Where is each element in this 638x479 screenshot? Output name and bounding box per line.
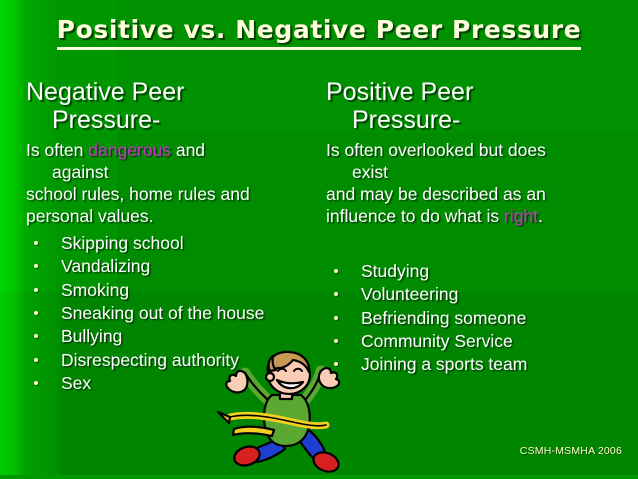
positive-behaviors-list: Studying Volunteering Befriending someon… <box>326 260 527 377</box>
negative-description-line-1: Is often dangerous and <box>26 139 318 161</box>
negative-description-accent-word: dangerous <box>88 140 171 160</box>
positive-bullet-label: Befriending someone <box>361 308 526 328</box>
positive-description-line-1: Is often overlooked but does <box>326 139 626 161</box>
positive-bullet-label: Volunteering <box>361 284 458 304</box>
positive-column-heading: Positive Peer Pressure- <box>326 78 626 135</box>
negative-bullet-label: Vandalizing <box>61 256 150 276</box>
slide-title: Positive vs. Negative Peer Pressure <box>57 16 582 50</box>
positive-bullet-label: Studying <box>361 261 429 281</box>
credit-text: CSMH-MSMHA 2006 <box>520 445 622 457</box>
negative-bullet-label: Sex <box>61 373 91 393</box>
negative-column-description: Is often dangerous and against school ru… <box>26 139 318 228</box>
list-item: Sneaking out of the house <box>26 302 264 325</box>
positive-description-line-3: and may be described as an <box>326 183 626 205</box>
positive-column-description: Is often overlooked but does exist and m… <box>326 139 626 228</box>
positive-bullet-label: Community Service <box>361 331 513 351</box>
positive-description-line-4: influence to do what is right. <box>326 205 626 227</box>
list-item: Volunteering <box>326 283 527 306</box>
positive-description-line-4-post: . <box>538 206 543 226</box>
positive-description-accent-word: right <box>504 206 538 226</box>
negative-bullet-label: Bullying <box>61 326 122 346</box>
negative-peer-pressure-column: Negative Peer Pressure- Is often dangero… <box>26 78 318 227</box>
positive-description-line-4-pre: influence to do what is <box>326 206 504 226</box>
list-item: Vandalizing <box>26 255 264 278</box>
negative-heading-line-1: Negative Peer <box>26 78 184 106</box>
negative-description-line-4: personal values. <box>26 205 318 227</box>
list-item: Studying <box>326 260 527 283</box>
negative-bullet-label: Sneaking out of the house <box>61 303 264 323</box>
positive-heading-line-2: Pressure- <box>326 106 626 134</box>
cheering-boy-icon <box>214 343 350 479</box>
list-item: Smoking <box>26 279 264 302</box>
list-item: Community Service <box>326 330 527 353</box>
positive-description-line-2: exist <box>326 161 626 183</box>
negative-bullet-label: Disrespecting authority <box>61 350 239 370</box>
negative-description-line-1-pre: Is often <box>26 140 88 160</box>
negative-description-line-2: against <box>26 161 318 183</box>
negative-bullet-label: Skipping school <box>61 233 184 253</box>
list-item: Befriending someone <box>326 307 527 330</box>
negative-description-line-1-post: and <box>171 140 205 160</box>
list-item: Skipping school <box>26 232 264 255</box>
positive-heading-line-1: Positive Peer <box>326 78 473 106</box>
slide-canvas: Positive vs. Negative Peer Pressure Nega… <box>0 0 638 479</box>
negative-heading-line-2: Pressure- <box>26 106 318 134</box>
list-item: Joining a sports team <box>326 353 527 376</box>
negative-column-heading: Negative Peer Pressure- <box>26 78 318 135</box>
positive-bullet-label: Joining a sports team <box>361 354 527 374</box>
negative-bullet-label: Smoking <box>61 280 129 300</box>
positive-peer-pressure-column: Positive Peer Pressure- Is often overloo… <box>326 78 626 227</box>
title-container: Positive vs. Negative Peer Pressure <box>0 16 638 50</box>
negative-description-line-3: school rules, home rules and <box>26 183 318 205</box>
